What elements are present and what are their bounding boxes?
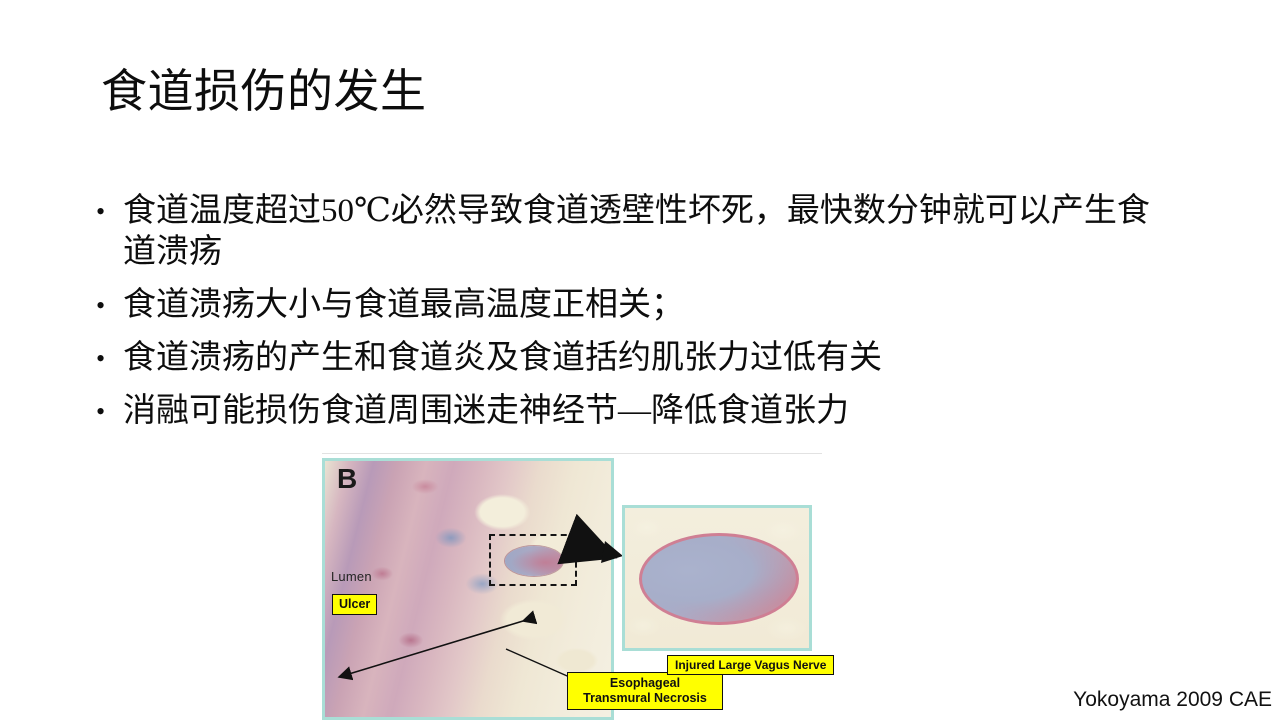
- bullet-marker-icon: •: [96, 338, 123, 379]
- ulcer-tag: Ulcer: [332, 594, 377, 615]
- lumen-label: Lumen: [331, 569, 372, 584]
- bullet-marker-icon: •: [96, 285, 123, 326]
- list-item: • 食道溃疡大小与食道最高温度正相关；: [96, 285, 1196, 326]
- list-item-label: 食道温度超过50℃必然导致食道透壁性坏死，最快数分钟就可以产生食道溃疡: [123, 191, 1171, 273]
- list-item-label: 食道溃疡的产生和食道炎及食道括约肌张力过低有关: [123, 338, 1196, 379]
- list-item: • 食道温度超过50℃必然导致食道透壁性坏死，最快数分钟就可以产生食道溃疡: [96, 191, 1196, 273]
- histology-panel-right: [622, 505, 812, 651]
- roi-dashed-box: [489, 534, 577, 586]
- list-item: • 食道溃疡的产生和食道炎及食道括约肌张力过低有关: [96, 338, 1196, 379]
- panel-letter-label: B: [337, 465, 357, 493]
- injured-large-vagus-nerve-tag: Injured Large Vagus Nerve: [667, 655, 834, 675]
- figure-divider-line: [322, 453, 822, 454]
- zoom-pointer-arrow-icon: [565, 531, 623, 565]
- list-item-label: 食道溃疡大小与食道最高温度正相关；: [123, 285, 1196, 326]
- histology-figure: B Lumen Ulcer: [322, 453, 822, 720]
- bullet-marker-icon: •: [96, 191, 123, 232]
- esophageal-transmural-necrosis-tag: Esophageal Transmural Necrosis: [567, 672, 723, 710]
- bullet-marker-icon: •: [96, 391, 123, 432]
- nerve-cross-section: [505, 546, 563, 576]
- citation-label: Yokoyama 2009 CAE: [1073, 688, 1272, 712]
- list-item-label: 消融可能损伤食道周围迷走神经节—降低食道张力: [123, 391, 1196, 432]
- page-title: 食道损伤的发生: [101, 66, 427, 118]
- bullet-list: • 食道温度超过50℃必然导致食道透壁性坏死，最快数分钟就可以产生食道溃疡 • …: [96, 191, 1196, 432]
- list-item: • 消融可能损伤食道周围迷走神经节—降低食道张力: [96, 391, 1196, 432]
- vagus-nerve-image: [639, 533, 799, 625]
